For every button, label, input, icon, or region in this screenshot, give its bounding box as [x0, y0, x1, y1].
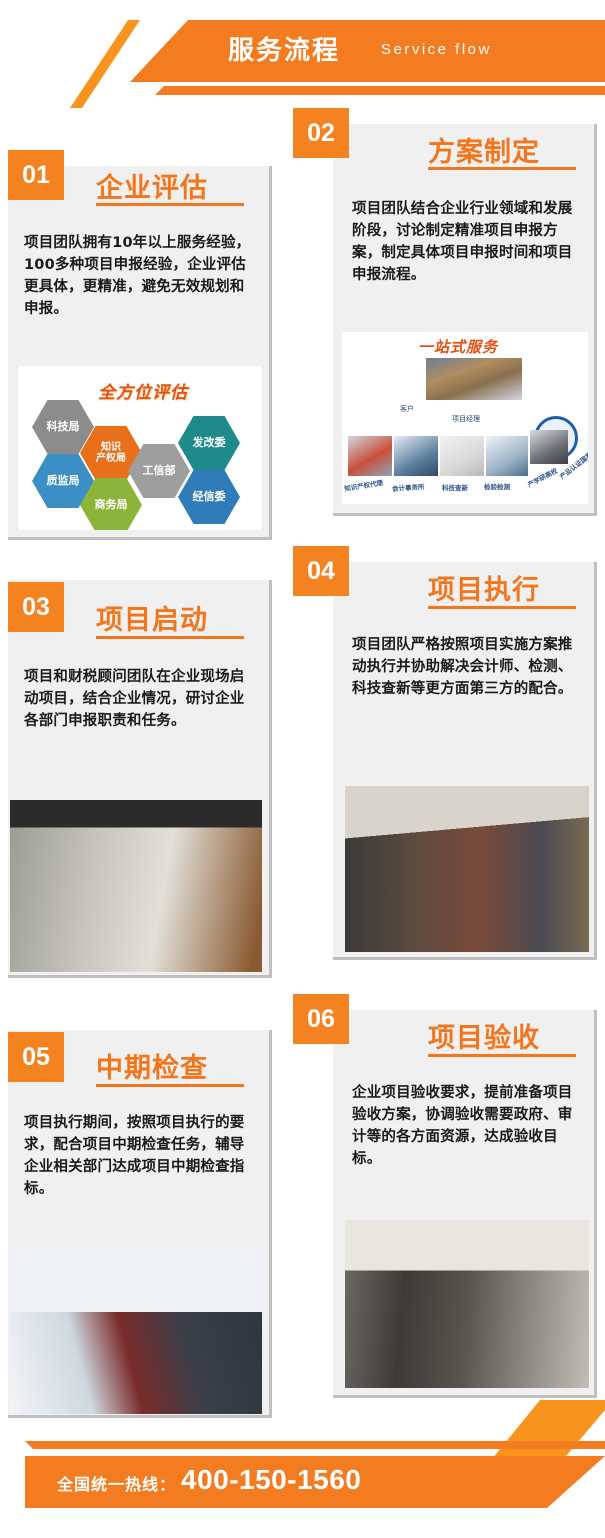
page-title-en: Service flow: [381, 41, 492, 58]
step-body-05: 项目执行期间，按照项目执行的要求，配合项目中期检查任务，辅导企业相关部门达成项目…: [24, 1112, 254, 1200]
step-title-rule-04: [428, 606, 576, 609]
one-stop-caption-university: 产学研高校: [526, 465, 559, 489]
header-banner: [130, 20, 605, 82]
one-stop-thumb-ip: [348, 436, 392, 476]
step-title-02: 方案制定: [428, 130, 540, 169]
one-stop-caption-testing: 检验检测: [484, 481, 510, 491]
page-title-zh: 服务流程: [228, 30, 340, 67]
step-photo-04: [345, 786, 589, 952]
step-badge-06: 06: [293, 994, 349, 1044]
step-title-03: 项目启动: [96, 598, 208, 637]
one-stop-thumb-university: [530, 430, 568, 464]
step-photo-05: [10, 1244, 262, 1414]
step-title-04: 项目执行: [428, 568, 540, 607]
one-stop-caption-ip: 知识产权代理: [343, 477, 383, 493]
one-stop-node-manager: 项目经理: [452, 414, 480, 424]
conference-room-image: [10, 800, 262, 972]
hex-diagram: 全方位评估 科技局 知识产权局 质监局 工信部 商务局 发改委 经信委: [18, 366, 262, 530]
one-stop-hero-photo: [426, 358, 522, 400]
step-badge-05: 05: [8, 1032, 64, 1082]
page-header: 服务流程 Service flow: [0, 0, 605, 108]
hex-diagram-title: 全方位评估: [98, 378, 188, 403]
hex-node-jingxin: 经信委: [178, 470, 240, 524]
lobby-briefing-image: [10, 1244, 262, 1414]
one-stop-title: 一站式服务: [418, 336, 498, 357]
header-slash-decoration: [70, 20, 140, 108]
footer-top-line: [25, 1441, 605, 1449]
one-stop-thumb-testing: [486, 436, 528, 476]
step-badge-03: 03: [8, 582, 64, 632]
step-badge-02: 02: [293, 108, 349, 158]
step-title-rule-01: [96, 203, 244, 206]
step-body-02: 项目团队结合企业行业领域和发展阶段，讨论制定精准项目申报方案，制定具体项目申报时…: [352, 198, 584, 286]
one-stop-node-customer: 客户: [400, 404, 414, 414]
step-body-06: 企业项目验收要求，提前准备项目验收方案，协调验收需要政府、审计等的各方面资源，达…: [352, 1082, 584, 1170]
step-badge-04: 04: [293, 546, 349, 596]
step-title-01: 企业评估: [96, 166, 208, 205]
step-title-rule-03: [96, 636, 244, 639]
step-body-03: 项目和财税顾问团队在企业现场启动项目，结合企业情况，研讨企业各部门申报职责和任务…: [24, 666, 254, 732]
step-badge-01: 01: [8, 150, 64, 200]
one-stop-thumb-novelty: [440, 436, 484, 476]
one-stop-diagram: 一站式服务 客户 项目经理 ISO 知识产权代理 会计事务所 科技查新 检验检测…: [342, 332, 588, 504]
step-title-05: 中期检查: [96, 1046, 208, 1085]
step-photo-03: [10, 800, 262, 972]
service-flow-infographic: 服务流程 Service flow 01 企业评估 项目团队拥有10年以上服务经…: [0, 0, 605, 1538]
header-banner-underline: [155, 86, 605, 95]
step-title-rule-02: [428, 167, 576, 170]
meeting-table-image: [345, 786, 589, 952]
step-title-rule-06: [428, 1054, 576, 1057]
hotline-label: 全国统一热线：: [57, 1471, 176, 1495]
step-body-01: 项目团队拥有10年以上服务经验，100多种项目申报经验，企业评估更具体，更精准，…: [24, 232, 254, 320]
hex-node-fagai: 发改委: [178, 416, 240, 470]
one-stop-caption-novelty: 科技查新: [442, 482, 468, 492]
step-title-06: 项目验收: [428, 1016, 540, 1055]
hotline-number[interactable]: 400-150-1560: [181, 1464, 361, 1496]
boardroom-image: [345, 1220, 589, 1388]
step-body-04: 项目团队严格按照项目实施方案推动执行并协助解决会计师、检测、科技查新等更方面第三…: [352, 634, 584, 700]
step-title-rule-05: [96, 1084, 244, 1087]
one-stop-thumb-accounting: [394, 436, 438, 476]
step-photo-06: [345, 1220, 589, 1388]
one-stop-caption-accounting: 会计事务所: [392, 481, 425, 493]
